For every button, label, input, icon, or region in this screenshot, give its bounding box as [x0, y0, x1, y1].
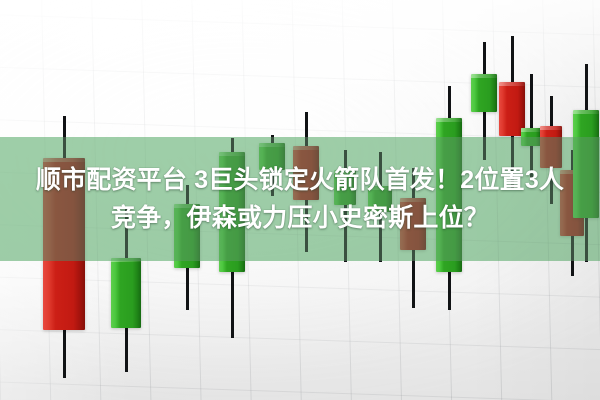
headline-text: 顺市配资平台 3巨头锁定火箭队首发！2位置3人 竞争，伊森或力压小史密斯上位？: [0, 161, 600, 237]
candle-body-highlight: [521, 128, 541, 132]
candle-body-up: [111, 258, 141, 328]
banner-image: 顺市配资平台 3巨头锁定火箭队首发！2位置3人 竞争，伊森或力压小史密斯上位？: [0, 0, 600, 400]
candle-body-highlight: [436, 118, 462, 122]
candle-body-up: [471, 74, 497, 112]
candle-body-highlight: [573, 110, 599, 114]
candle-body-highlight: [540, 126, 562, 130]
candle-body-highlight: [471, 74, 497, 78]
